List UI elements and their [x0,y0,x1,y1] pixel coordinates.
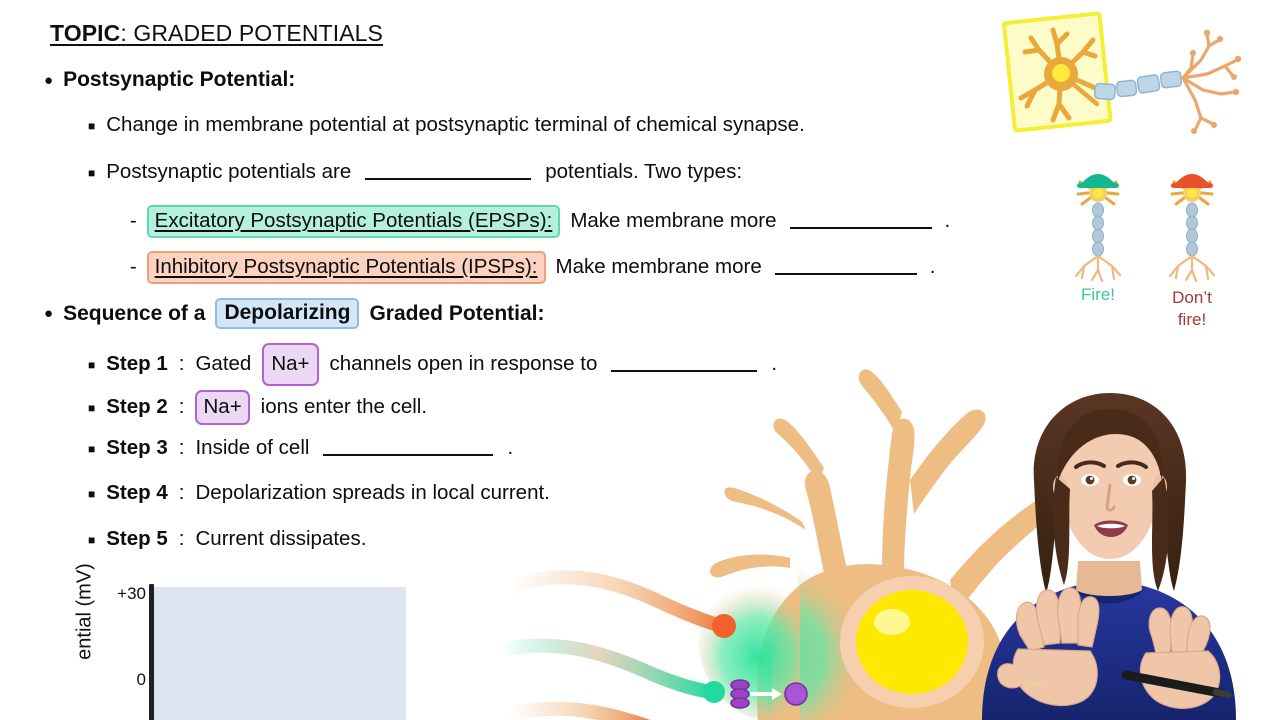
step-4-sep: : [179,481,185,505]
step-5-label: Step 5 [106,527,168,551]
dont-fire-label-line2: fire! [1152,310,1232,330]
page-title: TOPIC: GRADED POTENTIALS [50,20,383,47]
bullet-change-in-membrane: Change in membrane potential at postsyna… [88,113,805,137]
highlighted-neuron-diagram [995,8,1280,148]
epsp-rest-text: Make membrane more [570,209,776,233]
list-item-step-2: Step 2: Na+ ions enter the cell. [88,390,427,425]
chart-ytick-30: +30 [117,584,146,604]
dont-fire-label-line1: Don’t [1152,288,1232,308]
step-1-pre: Gated [195,352,251,376]
chart-plot-area [154,587,406,720]
topic-value: GRADED POTENTIALS [133,20,383,46]
step-5-sep: : [179,527,185,551]
topic-label: TOPIC [50,20,120,46]
fill-blank-potential-type[interactable] [365,165,531,180]
membrane-potential-chart: ential (mV) +30 0 [55,578,415,720]
list-item-step-3: Step 3: Inside of cell . [88,436,513,460]
chart-ytick-0: 0 [137,670,146,690]
ipsp-period: . [930,255,936,279]
sequence-pre: Sequence of a [63,302,205,326]
depolarizing-highlight-chip: Depolarizing [215,298,359,329]
sequence-post: Graded Potential: [369,302,544,326]
na-ion-chip-step-1: Na+ [262,343,318,386]
step-1-sep: : [179,352,185,376]
step-2-label: Step 2 [106,395,168,419]
step-4-label: Step 4 [106,481,168,505]
instructor-presenter [930,385,1280,720]
step-1-label: Step 1 [106,352,168,376]
fill-blank-step-1[interactable] [611,357,757,372]
step-3-label: Step 3 [106,436,168,460]
slide-content: TOPIC: GRADED POTENTIALS Postsynaptic Po… [0,0,1000,720]
na-ion-chip-step-2: Na+ [195,390,249,425]
list-item-step-1: Step 1: Gated Na+ channels open in respo… [88,343,777,386]
dont-fire-neuron-icon [1152,162,1232,287]
bullet-are-pre: Postsynaptic potentials are [106,160,351,184]
ipsp-chip-label: Inhibitory Postsynaptic Potentials (IPSP… [155,255,538,278]
step-3-sep: : [179,436,185,460]
fire-neuron-icon [1058,162,1138,287]
ipsp-rest-text: Make membrane more [556,255,762,279]
video-slide-frame: Fire! Don’t fire! [0,0,1280,720]
step-3-pre: Inside of cell [195,436,309,460]
heading-sequence: Sequence of a Depolarizing Graded Potent… [44,298,545,329]
bullet-ipsp: Inhibitory Postsynaptic Potentials (IPSP… [130,251,935,284]
chart-y-ticks: +30 0 [90,578,146,720]
fire-label: Fire! [1058,285,1138,305]
step-2-post: ions enter the cell. [261,395,427,419]
bullet-epsp: Excitatory Postsynaptic Potentials (EPSP… [130,205,950,238]
step-5-pre: Current dissipates. [195,527,366,551]
epsp-period: . [945,209,951,233]
list-item-step-5: Step 5: Current dissipates. [88,527,366,551]
fill-blank-ipsp[interactable] [775,260,917,275]
epsp-highlight-chip: Excitatory Postsynaptic Potentials (EPSP… [147,205,561,238]
ipsp-highlight-chip: Inhibitory Postsynaptic Potentials (IPSP… [147,251,546,284]
step-3-period: . [507,436,513,460]
epsp-chip-label: Excitatory Postsynaptic Potentials (EPSP… [155,209,553,232]
heading-postsynaptic-label: Postsynaptic Potential: [63,68,295,92]
fill-blank-epsp[interactable] [790,214,932,229]
fill-blank-step-3[interactable] [323,441,493,456]
step-2-sep: : [179,395,185,419]
topic-separator: : [120,20,133,46]
bullet-are-post: potentials. Two types: [545,160,742,184]
step-4-pre: Depolarization spreads in local current. [195,481,549,505]
heading-postsynaptic-potential: Postsynaptic Potential: [44,68,295,92]
bullet-postsynaptic-are: Postsynaptic potentials are potentials. … [88,160,742,184]
bullet-change-text: Change in membrane potential at postsyna… [106,113,805,137]
list-item-step-4: Step 4: Depolarization spreads in local … [88,481,550,505]
step-1-post: channels open in response to [330,352,598,376]
step-1-period: . [771,352,777,376]
